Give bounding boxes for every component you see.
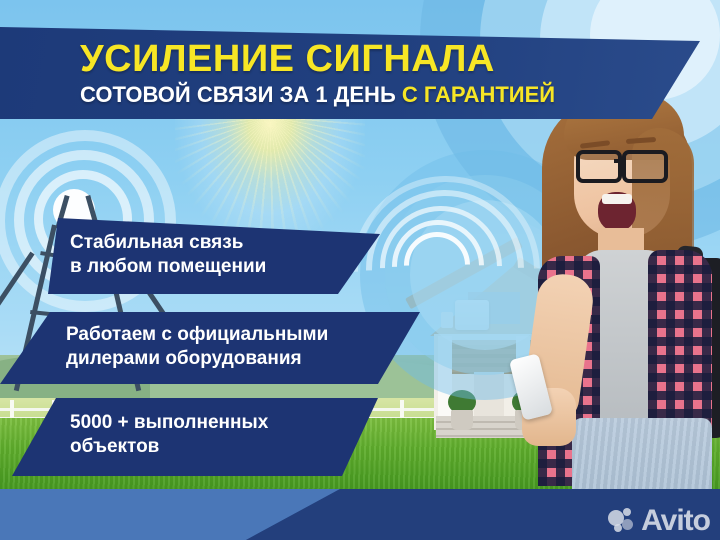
headline-banner: УСИЛЕНИЕ СИГНАЛА СОТОВОЙ СВЯЗИ ЗА 1 ДЕНЬ… <box>0 27 720 119</box>
headline-secondary-yellow: С ГАРАНТИЕЙ <box>402 82 555 107</box>
feature-3-line-1: 5000 + выполненных <box>70 411 378 435</box>
headline-primary: УСИЛЕНИЕ СИГНАЛА <box>80 40 720 78</box>
feature-2-line-2: дилерами оборудования <box>66 347 420 371</box>
woman-with-phone-photo <box>520 88 720 540</box>
feature-1-line-1: Стабильная связь <box>70 231 380 255</box>
sun-rays-icon <box>175 100 365 240</box>
headline-secondary-white: СОТОВОЙ СВЯЗИ ЗА 1 ДЕНЬ <box>80 82 402 107</box>
avito-dots-logo-icon <box>608 508 636 534</box>
feature-2-line-1: Работаем с официальными <box>66 323 420 347</box>
avito-watermark: Avito <box>608 506 710 536</box>
feature-banner-3: 5000 + выполненных объектов <box>12 398 378 476</box>
feature-3-line-2: объектов <box>70 435 378 459</box>
feature-banner-2: Работаем с официальными дилерами оборудо… <box>0 312 420 384</box>
eyeglasses-icon <box>576 150 668 176</box>
avito-watermark-text: Avito <box>641 506 710 536</box>
advertisement-banner: УСИЛЕНИЕ СИГНАЛА СОТОВОЙ СВЯЗИ ЗА 1 ДЕНЬ… <box>0 0 720 540</box>
feature-1-line-2: в любом помещении <box>70 255 380 279</box>
headline-secondary: СОТОВОЙ СВЯЗИ ЗА 1 ДЕНЬ С ГАРАНТИЕЙ <box>80 84 720 106</box>
